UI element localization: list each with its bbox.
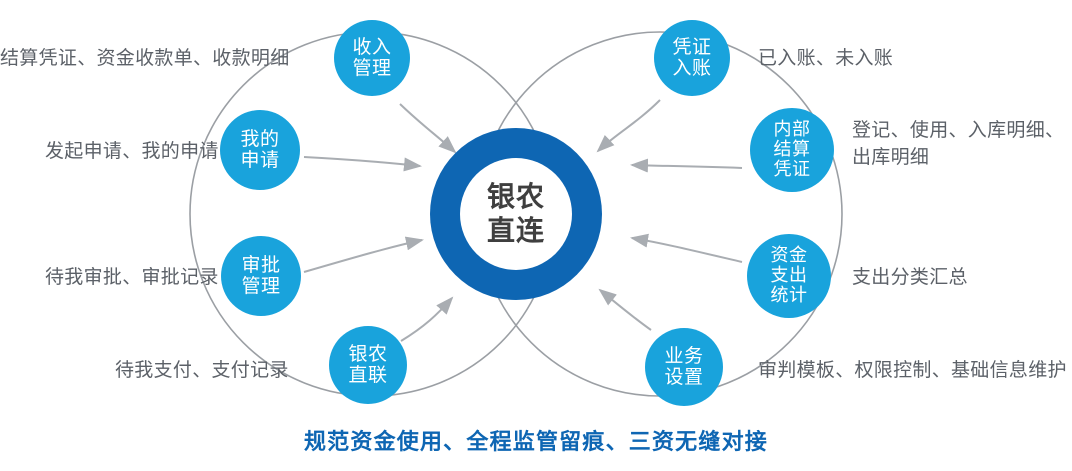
node-income-management[interactable]: 收入 管理 xyxy=(334,20,410,96)
node-label-line: 收入 xyxy=(352,37,391,58)
node-label-line: 统计 xyxy=(771,286,808,306)
node-fund-expenditure-statistics[interactable]: 资金 支出 统计 xyxy=(747,234,831,318)
label-line: 结算凭证、资金收款单、收款明细 xyxy=(0,45,290,72)
arrow-fund-expenditure-statistics-to-center xyxy=(632,238,742,262)
arrow-internal-settlement-voucher-to-center xyxy=(632,165,742,168)
label-business-settings: 审判模板、权限控制、基础信息维护 xyxy=(758,357,1067,384)
center-hub-label: 银农 直连 xyxy=(460,158,572,270)
arrow-business-settings-to-center xyxy=(600,290,651,330)
node-bank-village-direct-link[interactable]: 银农 直联 xyxy=(329,326,407,404)
node-label-line: 管理 xyxy=(352,58,391,79)
center-hub-label-line-1: 银农 xyxy=(487,180,545,214)
node-label-line: 资金 xyxy=(771,246,808,266)
node-my-application[interactable]: 我的 申请 xyxy=(220,110,300,190)
node-label-line: 申请 xyxy=(240,150,279,171)
diagram-caption: 规范资金使用、全程监管留痕、三资无缝对接 xyxy=(0,424,1072,456)
node-approval-management[interactable]: 审批 管理 xyxy=(221,236,301,316)
node-label-line: 业务 xyxy=(664,346,703,367)
node-label-line: 内部 xyxy=(774,120,811,140)
node-label-line: 我的 xyxy=(240,129,279,150)
node-label-line: 直联 xyxy=(348,365,387,386)
label-line: 发起申请、我的申请 xyxy=(45,138,219,165)
center-hub[interactable]: 银农 直连 xyxy=(430,128,602,300)
label-line: 已入账、未入账 xyxy=(758,45,893,72)
label-line: 待我支付、支付记录 xyxy=(115,357,289,384)
label-line: 待我审批、审批记录 xyxy=(45,264,219,291)
label-line: 支出分类汇总 xyxy=(852,264,968,291)
label-bank-village-direct-link: 待我支付、支付记录 xyxy=(115,357,289,384)
node-label-line: 审批 xyxy=(241,255,280,276)
node-label-line: 凭证 xyxy=(672,37,711,58)
label-line: 审判模板、权限控制、基础信息维护 xyxy=(758,357,1067,384)
node-label-line: 结算 xyxy=(774,140,811,160)
node-label-line: 支出 xyxy=(771,266,808,286)
arrow-income-management-to-center xyxy=(400,104,455,152)
node-label-line: 银农 xyxy=(348,344,387,365)
node-internal-settlement-voucher[interactable]: 内部 结算 凭证 xyxy=(750,108,834,192)
label-income-management: 结算凭证、资金收款单、收款明细 xyxy=(0,45,290,72)
node-label-line: 凭证 xyxy=(774,160,811,180)
label-fund-expenditure-statistics: 支出分类汇总 xyxy=(852,264,968,291)
node-business-settings[interactable]: 业务 设置 xyxy=(645,328,723,406)
arrow-direct-link-to-center xyxy=(401,298,452,341)
label-approval-management: 待我审批、审批记录 xyxy=(45,264,219,291)
node-label-line: 入账 xyxy=(672,58,711,79)
label-line: 登记、使用、入库明细、 xyxy=(852,117,1072,144)
label-voucher-entry: 已入账、未入账 xyxy=(758,45,893,72)
arrow-my-application-to-center xyxy=(304,157,420,166)
arrow-voucher-entry-to-center xyxy=(598,100,660,151)
node-voucher-entry[interactable]: 凭证 入账 xyxy=(654,20,730,96)
label-line: 出库明细 xyxy=(852,144,1072,171)
center-hub-label-line-2: 直连 xyxy=(487,214,545,248)
label-my-application: 发起申请、我的申请 xyxy=(45,138,219,165)
node-label-line: 管理 xyxy=(241,276,280,297)
label-internal-settlement-voucher: 登记、使用、入库明细、 出库明细 xyxy=(852,117,1072,171)
diagram-canvas: 银农 直连 收入 管理 我的 申请 审批 管理 银农 直联 凭证 入账 内部 结… xyxy=(0,0,1072,471)
node-label-line: 设置 xyxy=(664,367,703,388)
arrow-approval-management-to-center xyxy=(304,240,422,272)
